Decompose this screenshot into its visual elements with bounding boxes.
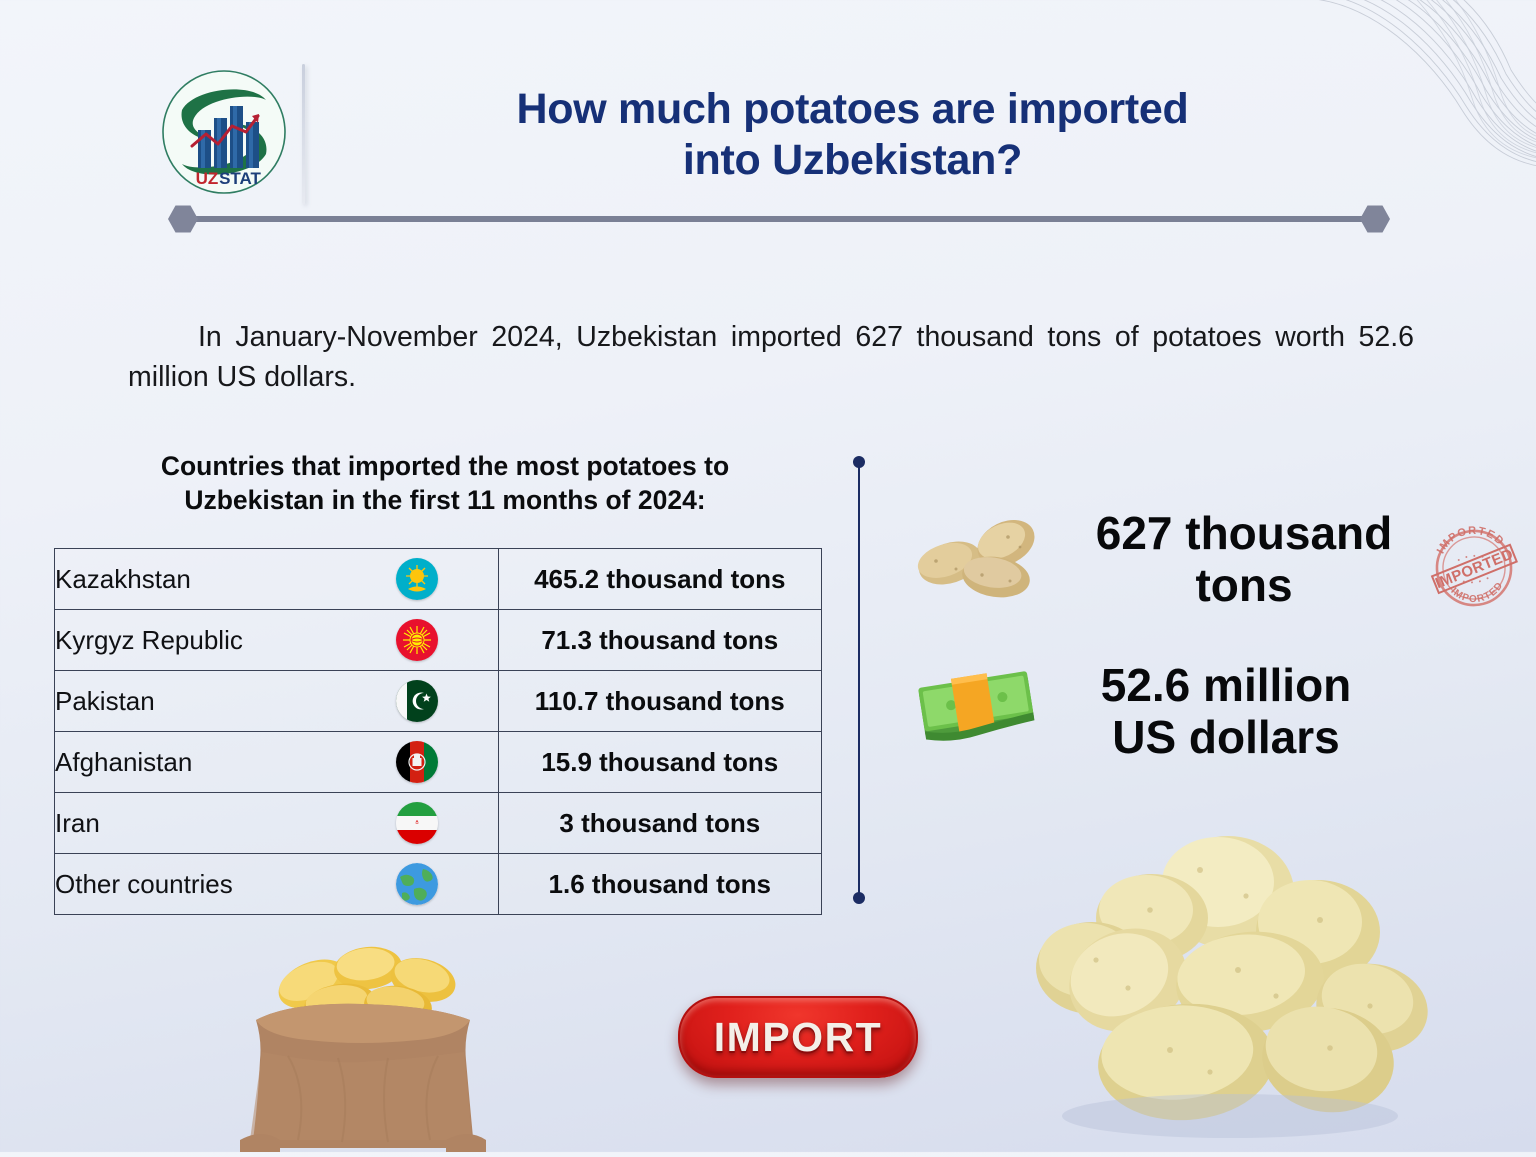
- potato-sack-icon: [218, 928, 508, 1152]
- potato-pile-icon: [1000, 800, 1450, 1152]
- country-name: Pakistan: [55, 686, 155, 717]
- intro-paragraph: In January-November 2024, Uzbekistan imp…: [128, 317, 1414, 398]
- stat-value-text: 52.6 million US dollars: [1070, 660, 1382, 763]
- stat-value-line-2: US dollars: [1112, 711, 1340, 763]
- section-connector: [853, 456, 865, 904]
- pakistan-flag-icon: [396, 680, 438, 722]
- page-title-line-2: into Uzbekistan?: [683, 136, 1022, 184]
- country-name: Other countries: [55, 869, 233, 900]
- globe-icon: [396, 863, 438, 905]
- import-value: 1.6 thousand tons: [498, 854, 821, 915]
- kazakhstan-flag-icon: [396, 558, 438, 600]
- import-value: 110.7 thousand tons: [498, 671, 821, 732]
- table-heading-line-2: Uzbekistan in the first 11 months of 202…: [184, 485, 705, 515]
- potatoes-icon: [912, 511, 1050, 608]
- import-value: 71.3 thousand tons: [498, 610, 821, 671]
- iran-flag-icon: [396, 802, 438, 844]
- countries-table: Kazakhstan 465.2 thou: [54, 548, 822, 915]
- logo-text-uz: UZ: [196, 169, 219, 188]
- table-heading: Countries that imported the most potatoe…: [50, 450, 840, 518]
- connector-dot-bottom-icon: [853, 892, 865, 904]
- afghanistan-flag-icon: [396, 741, 438, 783]
- connector-line: [858, 462, 860, 898]
- rule-hexagon-right-icon: [1360, 204, 1390, 234]
- page-title-line-1: How much potatoes are imported: [517, 85, 1189, 133]
- table-row: Iran 3 thousand tons: [55, 793, 822, 854]
- table-row: Kyrgyz Republic: [55, 610, 822, 671]
- logo-text-stat: STAT: [219, 169, 261, 188]
- money-stack-icon: [912, 661, 1044, 762]
- page-title: How much potatoes are imported into Uzbe…: [305, 62, 1390, 208]
- stat-volume-line-2: tons: [1195, 559, 1292, 611]
- import-button[interactable]: IMPORT: [678, 996, 918, 1078]
- rule-hexagon-left-icon: [168, 204, 198, 234]
- country-name: Afghanistan: [55, 747, 192, 778]
- table-row: Other countries 1.6 thousand tons: [55, 854, 822, 915]
- table-row: Pakistan 110.7 thousand tons: [55, 671, 822, 732]
- table-row: Kazakhstan 465.2 thou: [55, 549, 822, 610]
- rule-bar: [182, 216, 1376, 222]
- import-value: 15.9 thousand tons: [498, 732, 821, 793]
- kyrgyzstan-flag-icon: [396, 619, 438, 661]
- uzstat-logo: UZ STAT: [160, 68, 288, 196]
- table-heading-line-1: Countries that imported the most potatoe…: [161, 451, 729, 481]
- stat-volume-line-1: 627 thousand: [1096, 507, 1393, 559]
- import-button-label: IMPORT: [714, 1014, 882, 1061]
- imported-stamp: IMPORTED IMPORTED IMPORTED: [1418, 512, 1531, 625]
- country-name: Iran: [55, 808, 100, 839]
- stat-volume: 627 thousand tons: [912, 508, 1412, 611]
- import-value: 3 thousand tons: [498, 793, 821, 854]
- import-value: 465.2 thousand tons: [498, 549, 821, 610]
- header-rule: [168, 204, 1390, 234]
- table-row: Afghanistan 15.9 thousand tons: [55, 732, 822, 793]
- stat-value-line-1: 52.6 million: [1101, 659, 1352, 711]
- country-name: Kyrgyz Republic: [55, 625, 243, 656]
- country-name: Kazakhstan: [55, 564, 191, 595]
- stat-value: 52.6 million US dollars: [912, 660, 1382, 763]
- header: UZ STAT How much potatoes are imported i…: [160, 62, 1390, 212]
- stat-volume-text: 627 thousand tons: [1076, 508, 1412, 611]
